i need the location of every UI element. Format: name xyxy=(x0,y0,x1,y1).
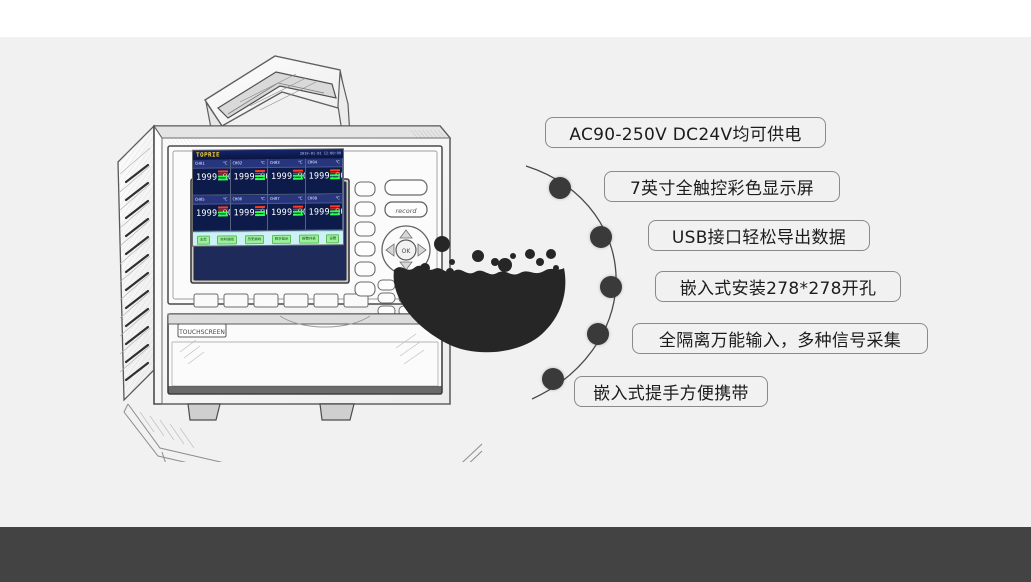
ink-bubble xyxy=(546,249,556,259)
feature-label-handle: 嵌入式提手方便携带 xyxy=(574,376,768,407)
feature-connector-dot xyxy=(542,368,564,390)
lcd-function-button[interactable]: 历史曲线 xyxy=(245,235,265,244)
ink-bubble xyxy=(432,279,436,283)
lcd-channel-header: CH05℃ xyxy=(193,195,230,204)
lcd-channel-bargraph xyxy=(330,169,340,180)
front-badge-text: TOUCHSCREEN xyxy=(178,329,225,336)
lcd-channel-unit: ℃ xyxy=(298,159,303,167)
lcd-channel-bargraph xyxy=(218,170,228,181)
lcd-channel-bargraph xyxy=(255,206,265,217)
lcd-channel-header: CH01℃ xyxy=(193,159,230,168)
device-illustration: TP700多路数据记录仪 xyxy=(110,52,490,462)
feature-label-display: 7英寸全触控彩色显示屏 xyxy=(604,171,840,202)
lcd-channel-cell: CH04℃1999.90 xyxy=(306,158,344,194)
ink-bubble xyxy=(449,259,455,265)
lcd-function-button[interactable]: 报警列表 xyxy=(299,234,319,243)
ink-bubble xyxy=(434,236,450,252)
lcd-channel-cell: CH06℃1999.90 xyxy=(231,195,269,231)
lcd-channel-cell: CH01℃1999.90 xyxy=(193,159,231,195)
lcd-clock: 2019-01-01 12:00:00 xyxy=(300,149,341,158)
footer-bar xyxy=(0,527,1031,582)
ink-bubble xyxy=(525,249,535,259)
ink-bubble xyxy=(463,275,469,281)
feature-label-usb: USB接口轻松导出数据 xyxy=(648,220,870,251)
svg-text:OK: OK xyxy=(402,248,412,255)
lcd-channel-unit: ℃ xyxy=(223,195,228,203)
lcd-channel-cell: CH07℃1999.90 xyxy=(268,195,306,231)
lcd-channel-name: CH08 xyxy=(308,194,318,202)
poster-canvas: TP700多路数据记录仪 xyxy=(0,0,1031,582)
lcd-channel-unit: ℃ xyxy=(336,158,341,166)
lcd-channel-unit: ℃ xyxy=(336,194,341,202)
lcd-function-button[interactable]: 设置 xyxy=(326,234,339,243)
lcd-function-button[interactable]: 数字显示 xyxy=(272,234,292,243)
ink-bubble xyxy=(536,258,544,266)
feature-connector-dot xyxy=(590,226,612,248)
ink-bubble xyxy=(446,268,454,276)
lower-drawer: TOUCHSCREEN xyxy=(168,314,442,394)
feature-label-mounting: 嵌入式安装278*278开孔 xyxy=(655,271,901,302)
feature-connector-dot xyxy=(587,323,609,345)
ink-bubble xyxy=(420,263,430,273)
top-white-band xyxy=(0,0,1031,37)
ink-bubble xyxy=(498,258,512,272)
side-vent-panel xyxy=(118,126,154,400)
lcd-channel-name: CH04 xyxy=(308,158,318,166)
device-feet xyxy=(188,404,354,420)
lcd-channel-name: CH03 xyxy=(270,159,280,167)
lcd-channel-name: CH01 xyxy=(195,160,205,168)
ground-sketch xyxy=(124,404,482,462)
lcd-channel-header: CH02℃ xyxy=(231,159,268,168)
lcd-function-button[interactable]: 主页 xyxy=(197,235,210,244)
device-lcd-screen: TOPRIE 2019-01-01 12:00:00 CH01℃1999.90C… xyxy=(193,149,343,246)
lcd-channel-bargraph xyxy=(330,205,340,216)
lcd-channel-unit: ℃ xyxy=(261,195,266,203)
lcd-channel-cell: CH08℃1999.90 xyxy=(306,194,344,230)
lcd-function-button[interactable]: 实时曲线 xyxy=(217,235,237,244)
lcd-function-bar: 主页实时曲线历史曲线数字显示报警列表设置 xyxy=(193,230,343,246)
lcd-channel-unit: ℃ xyxy=(261,159,266,167)
ink-bubble xyxy=(553,265,559,271)
lcd-channel-bargraph xyxy=(218,206,228,217)
ink-bubble xyxy=(484,273,490,279)
ink-bubble xyxy=(472,250,484,262)
lcd-channel-bargraph xyxy=(293,170,303,181)
lcd-channel-cell: CH03℃1999.90 xyxy=(268,159,306,195)
lcd-channel-header: CH04℃ xyxy=(306,158,343,167)
lcd-channel-cell: CH02℃1999.90 xyxy=(231,159,269,195)
svg-text:record: record xyxy=(395,207,417,215)
lcd-channel-unit: ℃ xyxy=(223,159,228,167)
lcd-channel-bargraph xyxy=(293,206,303,217)
lcd-channel-grid: CH01℃1999.90CH02℃1999.90CH03℃1999.90CH04… xyxy=(193,158,343,232)
lcd-channel-bargraph xyxy=(255,170,265,181)
lcd-channel-name: CH05 xyxy=(195,196,205,204)
lcd-channel-header: CH06℃ xyxy=(231,195,268,204)
lcd-channel-cell: CH05℃1999.90 xyxy=(193,195,231,231)
lcd-channel-header: CH08℃ xyxy=(306,194,343,203)
feature-connector-dot xyxy=(600,276,622,298)
lcd-channel-name: CH07 xyxy=(270,195,280,203)
lcd-channel-unit: ℃ xyxy=(298,195,303,203)
ink-bubble xyxy=(510,253,516,259)
lcd-channel-header: CH03℃ xyxy=(268,159,305,168)
feature-label-input: 全隔离万能输入，多种信号采集 xyxy=(632,323,928,354)
lcd-channel-name: CH06 xyxy=(233,195,243,203)
lcd-channel-name: CH02 xyxy=(233,159,243,167)
feature-label-power: AC90-250V DC24V均可供电 xyxy=(545,117,826,148)
lcd-channel-header: CH07℃ xyxy=(268,195,305,204)
lcd-brand-label: TOPRIE xyxy=(196,151,220,160)
feature-connector-dot xyxy=(549,177,571,199)
